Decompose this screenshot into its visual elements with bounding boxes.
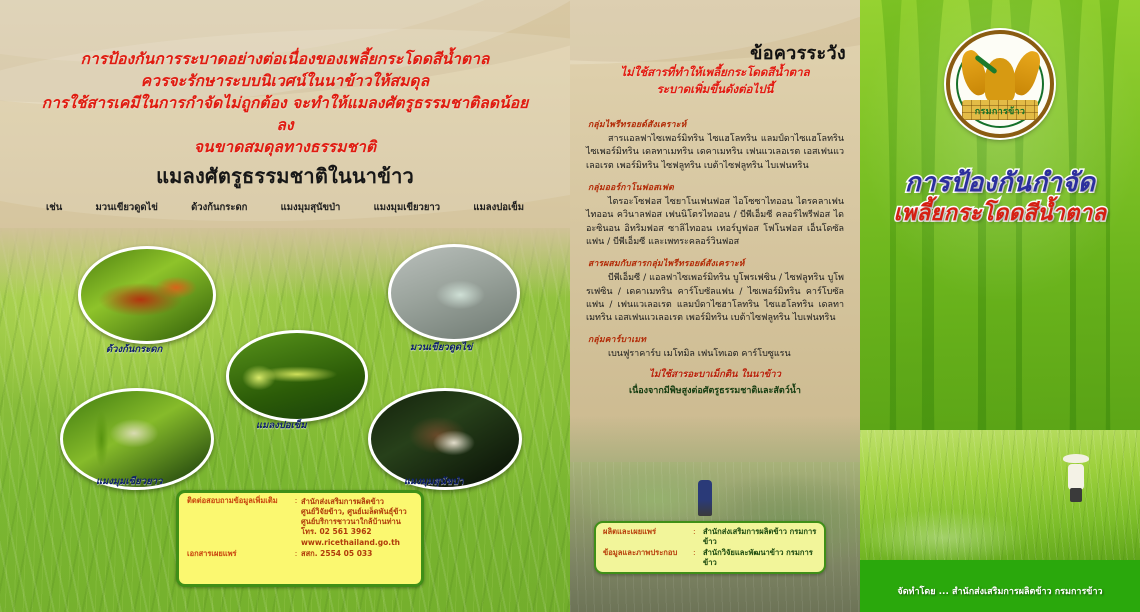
credit-row-producer: ผลิตและเผยแพร่ : สำนักส่งเสริมการผลิตข้า… (603, 527, 817, 548)
warnings-subtitle-line-2: ระบาดเพิ่มขึ้นดังต่อไปนี้ (570, 81, 860, 98)
logo-farmer-figure (985, 58, 1015, 102)
panel-natural-enemies: การป้องกันการระบาดอย่างต่อเนื่องของเพลี้… (0, 0, 570, 612)
credit-box: ผลิตและเผยแพร่ : สำนักส่งเสริมการผลิตข้า… (594, 521, 826, 574)
lead-line-1: การป้องกันการระบาดอย่างต่อเนื่องของเพลี้… (40, 48, 530, 70)
section-title-natural-enemies: แมลงศัตรูธรรมชาติในนาข้าว (0, 160, 570, 192)
contact-box: ติดต่อสอบถามข้อมูลเพิ่มเติม : สำนักส่งเส… (176, 490, 424, 587)
caption-rove-beetle: ด้วงก้นกระดก (106, 342, 162, 357)
lead-line-4: จนขาดสมดุลทางธรรมชาติ (40, 136, 530, 158)
contact-main-row: ติดต่อสอบถามข้อมูลเพิ่มเติม : สำนักส่งเส… (187, 497, 415, 548)
credit-value-producer: สำนักส่งเสริมการผลิตข้าว กรมการข้าว (703, 527, 817, 548)
credit-label-producer: ผลิตและเผยแพร่ (603, 527, 693, 548)
contact-line-0: สำนักส่งเสริมการผลิตข้าว (301, 497, 407, 507)
group-heading-carbamate: กลุ่มคาร์บาเมท (588, 332, 844, 346)
group-body-pyrethroid-mixtures: บีพีเอ็มซี / แอลฟาไซเพอร์มิทริน บูโพรเฟซ… (586, 272, 844, 325)
enemy-name-1: มวนเขียวดูดไข่ (95, 200, 157, 215)
contact-label: ติดต่อสอบถามข้อมูลเพิ่มเติม (187, 497, 291, 548)
credit-row-source: ข้อมูลและภาพประกอบ : สำนักวิจัยและพัฒนาข… (603, 548, 817, 569)
enemy-name-3: แมงมุมสุนัขป่า (281, 200, 341, 215)
panel-warnings: ข้อควรระวัง ไม่ใช้สารที่ทำให้เพลี้ยกระโด… (570, 0, 860, 612)
logo-name-text: กรมการข้าว (950, 104, 1050, 118)
publication-ref-label: เอกสารเผยแพร่ (187, 550, 291, 559)
credit-sep-producer: : (693, 527, 703, 548)
group-heading-pyrethroid: กลุ่มไพรีทรอยด์สังเคราะห์ (588, 117, 844, 131)
caption-damselfly: แมลงปอเข็ม (256, 418, 307, 433)
contact-line-1: ศูนย์วิจัยข้าว, ศูนย์เมล็ดพันธุ์ข้าว (301, 507, 407, 517)
publication-ref-row: เอกสารเผยแพร่ : สสก. 2554 05 033 (187, 550, 415, 559)
enemy-name-4: แมงมุมเขียวยาว (374, 200, 440, 215)
enemy-name-0: เช่น (46, 200, 62, 215)
group-body-pyrethroid: สารแอลฟาไซเพอร์มิทริน ไซแฮโลทริน แลมป์ดา… (586, 133, 844, 173)
publication-ref-value: สสก. 2554 05 033 (301, 550, 372, 559)
panel-cover: กรมการข้าว การป้องกันกำจัด เพลี้ยกระโดดส… (860, 0, 1140, 612)
contact-website[interactable]: www.ricethailand.go.th (301, 538, 407, 548)
farmer-legs (1070, 488, 1082, 502)
credit-label-source: ข้อมูลและภาพประกอบ (603, 548, 693, 569)
warnings-subtitle: ไม่ใช้สารที่ทำให้เพลี้ยกระโดดสีน้ำตาล ระ… (570, 64, 860, 99)
contact-phone: โทร. 02 561 3962 (301, 527, 407, 537)
caption-long-jawed-spider: แมงมุมเขียวยาว (96, 474, 162, 489)
contact-values: สำนักส่งเสริมการผลิตข้าว ศูนย์วิจัยข้าว,… (301, 497, 407, 548)
brochure-page: การป้องกันการระบาดอย่างต่อเนื่องของเพลี้… (0, 0, 1140, 612)
farmer-hat (1063, 454, 1089, 463)
mid-photo-fade (570, 416, 860, 462)
group-body-organophosphate: ไตรอะโซฟอส ไซยาโนเฟนฟอส ไอโซซาไทออน ไตรค… (586, 196, 844, 249)
photo-rove-beetle (78, 246, 216, 344)
rice-department-logo: กรมการข้าว (946, 30, 1054, 138)
contact-line-2: ศูนย์บริการชาวนาใกล้บ้านท่าน (301, 517, 407, 527)
warnings-title: ข้อควรระวัง (750, 38, 846, 67)
natural-enemy-name-row: เช่น มวนเขียวดูดไข่ ด้วงก้นกระดก แมงมุมส… (0, 200, 570, 215)
abamectin-warning: ไม่ใช้สารอะบาเม็กติน ในนาข้าว (586, 367, 844, 382)
lead-line-3: การใช้สารเคมีในการกำจัดไม่ถูกต้อง จะทำให… (40, 92, 530, 136)
warnings-body: กลุ่มไพรีทรอยด์สังเคราะห์ สารแอลฟาไซเพอร… (586, 110, 844, 397)
cover-title-line-2: เพลี้ยกระโดดสีน้ำตาล (860, 195, 1140, 230)
abamectin-warning-reason: เนื่องจากมีพิษสูงต่อศัตรูธรรมชาติและสัตว… (586, 383, 844, 397)
farmer-figure-icon (1068, 458, 1084, 502)
credit-sep-source: : (693, 548, 703, 569)
group-heading-organophosphate: กลุ่มออร์กาโนฟอสเฟต (588, 180, 844, 194)
photo-green-mirid-bug (388, 244, 520, 342)
cover-paddy-photo (860, 430, 1140, 565)
credit-value-source: สำนักวิจัยและพัฒนาข้าว กรมการข้าว (703, 548, 817, 569)
lead-line-2: ควรจะรักษาระบบนิเวศน์ในนาข้าวให้สมดุล (40, 70, 530, 92)
publication-ref-separator: : (291, 550, 301, 559)
lead-paragraph: การป้องกันการระบาดอย่างต่อเนื่องของเพลี้… (40, 48, 530, 158)
caption-wolf-spider: แมงมุมสุนัขป่า (404, 474, 464, 489)
enemy-name-2: ด้วงก้นกระดก (191, 200, 247, 215)
group-heading-pyrethroid-mixtures: สารผสมกับสารกลุ่มไพรีทรอยด์สังเคราะห์ (588, 256, 844, 270)
caption-green-mirid-bug: มวนเขียวดูดไข่ (410, 340, 472, 355)
warnings-subtitle-line-1: ไม่ใช้สารที่ทำให้เพลี้ยกระโดดสีน้ำตาล (570, 64, 860, 81)
cover-credit-text: จัดทำโดย ... สำนักส่งเสริมการผลิตข้าว กร… (860, 584, 1140, 598)
enemy-name-5: แมลงปอเข็ม (473, 200, 524, 215)
group-body-carbamate: เบนฟูราคาร์บ เมโทมิล เฟนโทเอต คาร์โบซูแร… (586, 348, 844, 361)
photo-damselfly (226, 330, 368, 422)
farmer-body (1068, 464, 1084, 490)
contact-separator: : (291, 497, 301, 548)
